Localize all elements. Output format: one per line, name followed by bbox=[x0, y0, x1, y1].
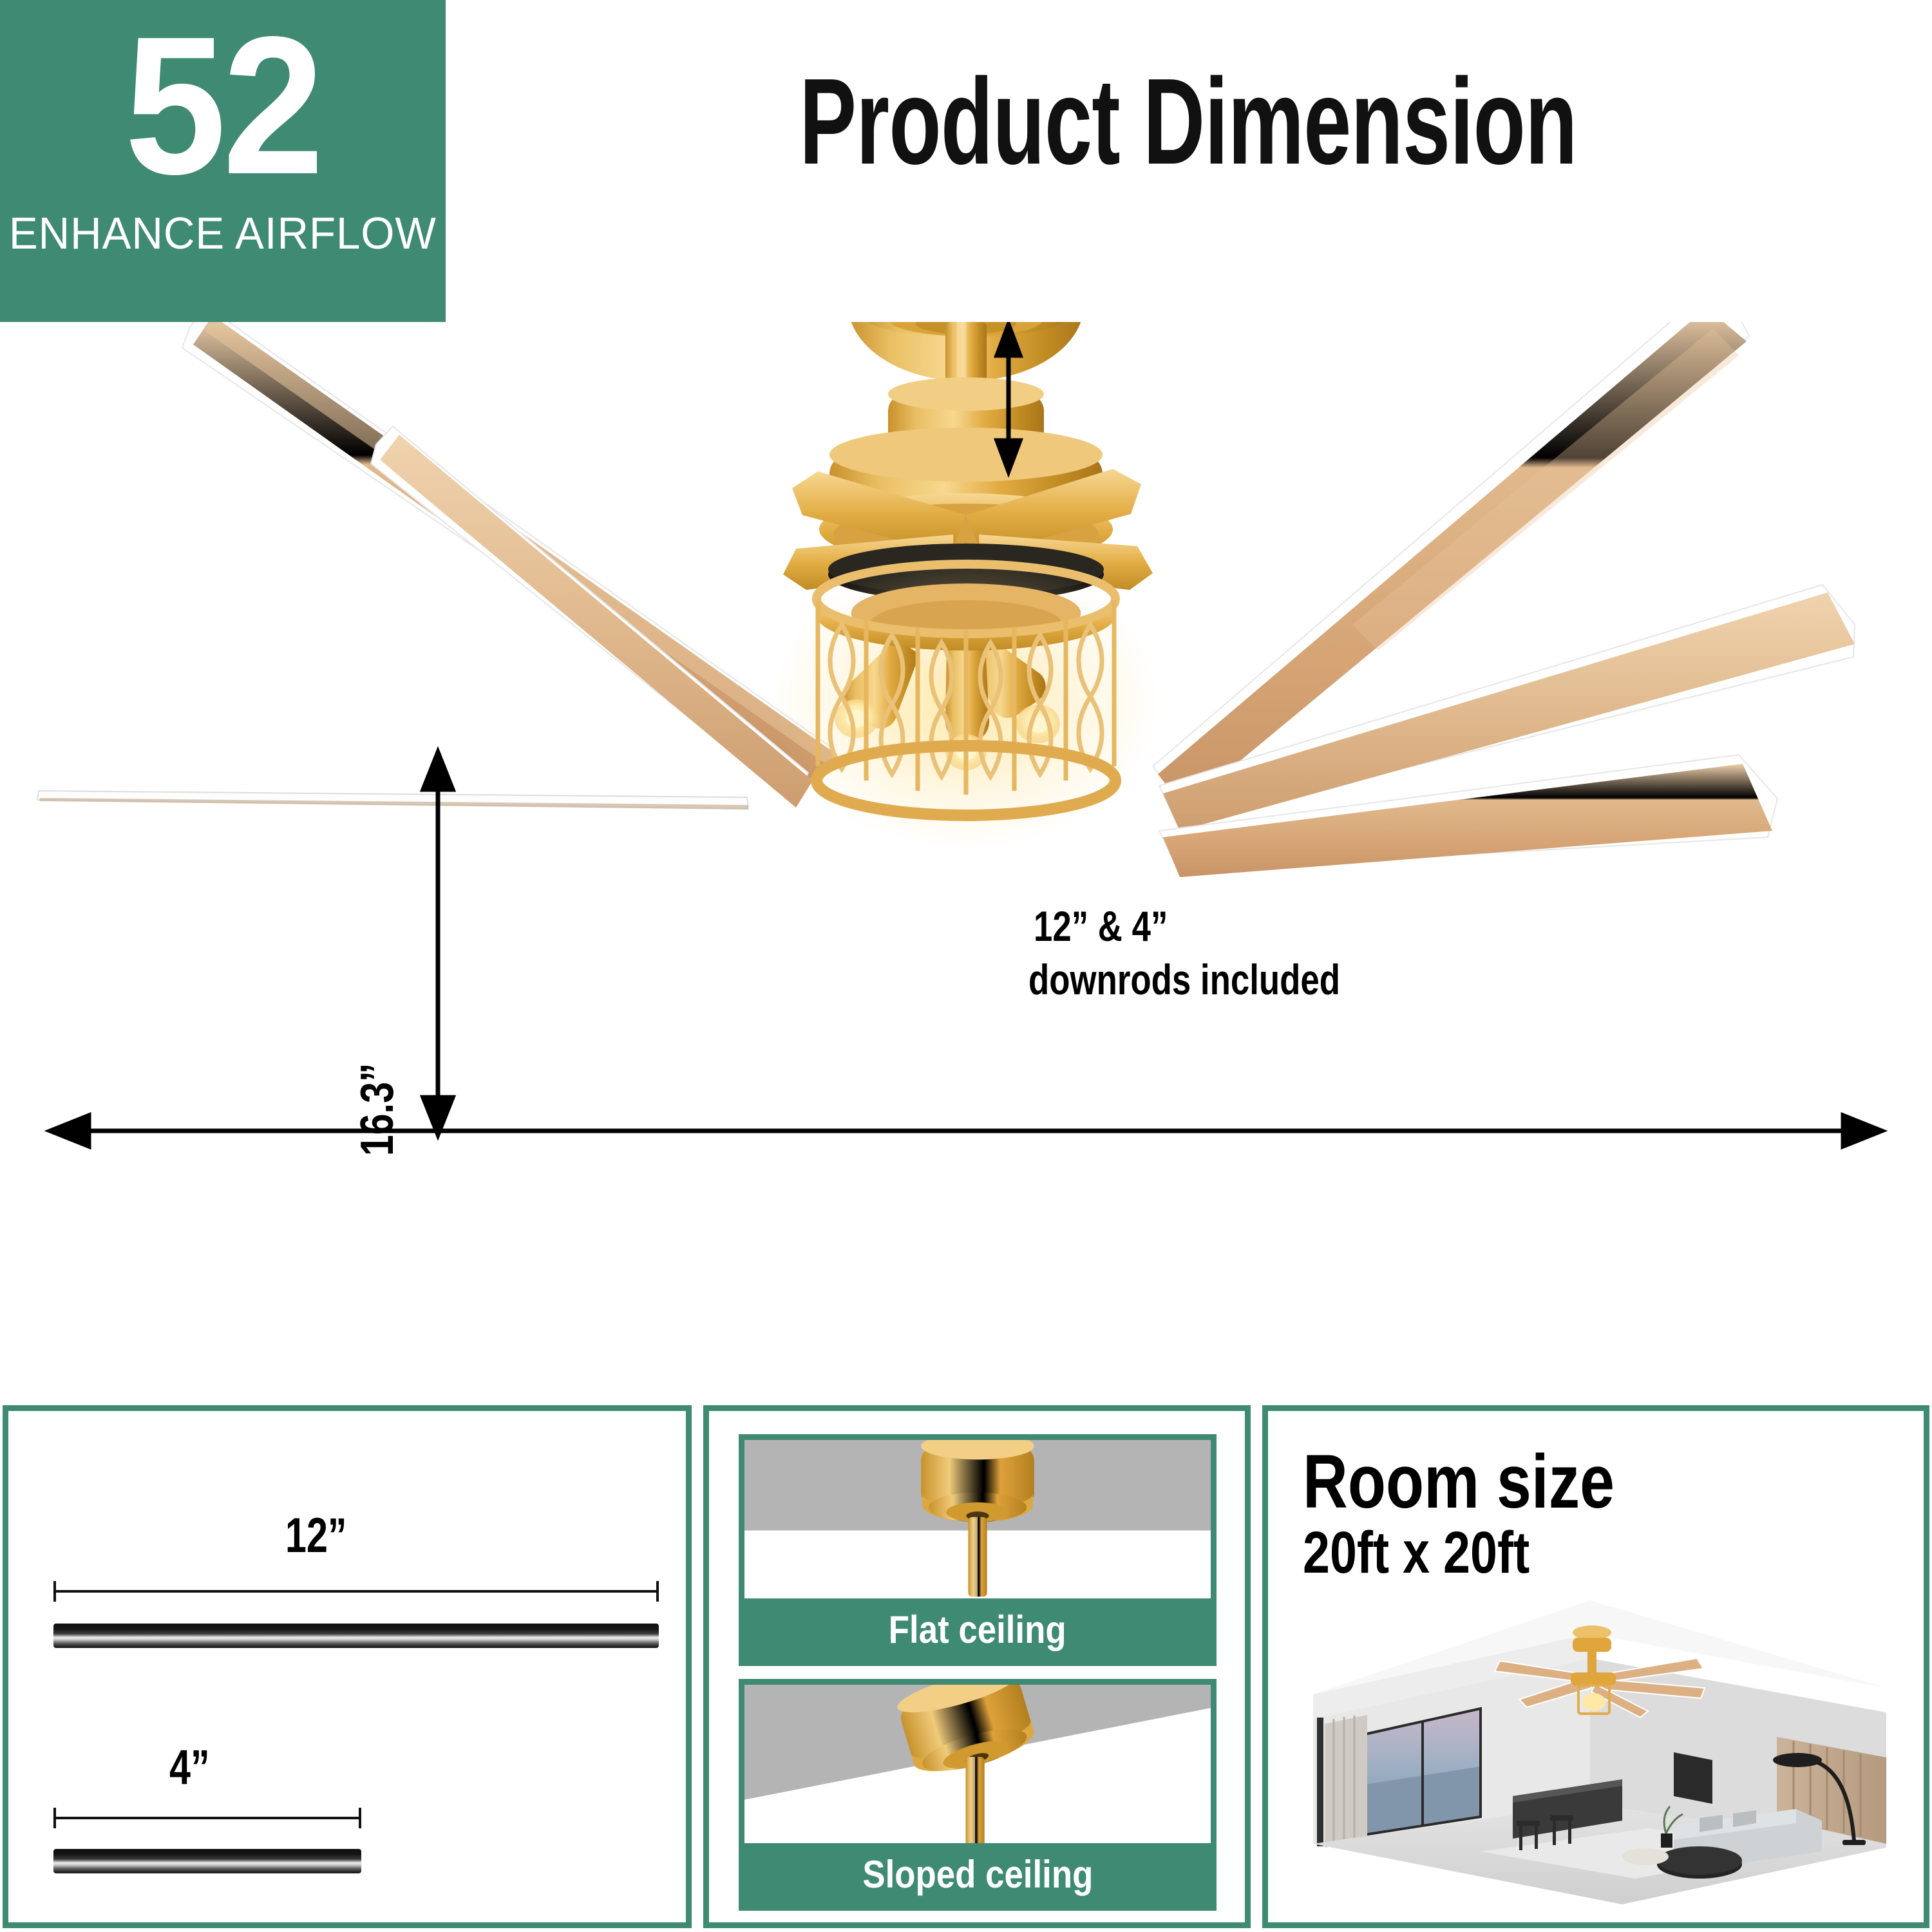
page-title: Product Dimension bbox=[672, 52, 1705, 192]
fan-blade bbox=[37, 791, 748, 810]
downrod-12-dimline bbox=[53, 1590, 659, 1593]
motor-housing-icon bbox=[819, 377, 1113, 565]
bottom-panels: 12” 4” bbox=[0, 1404, 1932, 1932]
downrod-4-rod bbox=[53, 1849, 361, 1873]
product-dimension-infographic: 52 ENHANCE AIRFLOW Product Dimension bbox=[0, 0, 1932, 1932]
badge-subtitle: ENHANCE AIRFLOW bbox=[9, 211, 437, 256]
room-size-panel: Room size 20ft x 20ft bbox=[1262, 1405, 1929, 1928]
flat-ceiling-caption: Flat ceiling bbox=[744, 1598, 1211, 1660]
room-render-image bbox=[1287, 1591, 1906, 1913]
ceiling-types-panel: Flat ceiling bbox=[703, 1405, 1251, 1928]
room-size-title: Room size bbox=[1303, 1438, 1615, 1526]
downrod-included-label: downrods included bbox=[1028, 955, 1340, 1004]
flat-ceiling-card: Flat ceiling bbox=[739, 1434, 1217, 1666]
downrod-4-label: 4” bbox=[169, 1739, 210, 1795]
light-cage-icon bbox=[773, 554, 1159, 850]
downrods-panel: 12” 4” bbox=[3, 1405, 692, 1928]
airflow-badge: 52 ENHANCE AIRFLOW bbox=[0, 0, 446, 322]
height-dimension-label: 16.3” bbox=[351, 1063, 404, 1156]
sloped-ceiling-caption: Sloped ceiling bbox=[744, 1843, 1211, 1905]
fan-illustration: 12” & 4” downrods included 16.3” 52” bbox=[0, 322, 1932, 1391]
sloped-ceiling-card: Sloped ceiling bbox=[739, 1679, 1217, 1911]
room-size-value: 20ft x 20ft bbox=[1303, 1519, 1529, 1587]
downrod-length-label: 12” & 4” bbox=[1034, 902, 1168, 951]
downrod-4-dimline bbox=[53, 1817, 361, 1819]
badge-number: 52 bbox=[125, 12, 321, 200]
downrod-12-label: 12” bbox=[285, 1508, 347, 1564]
fan-svg bbox=[0, 322, 1932, 1391]
downrod-12-rod bbox=[53, 1624, 659, 1648]
